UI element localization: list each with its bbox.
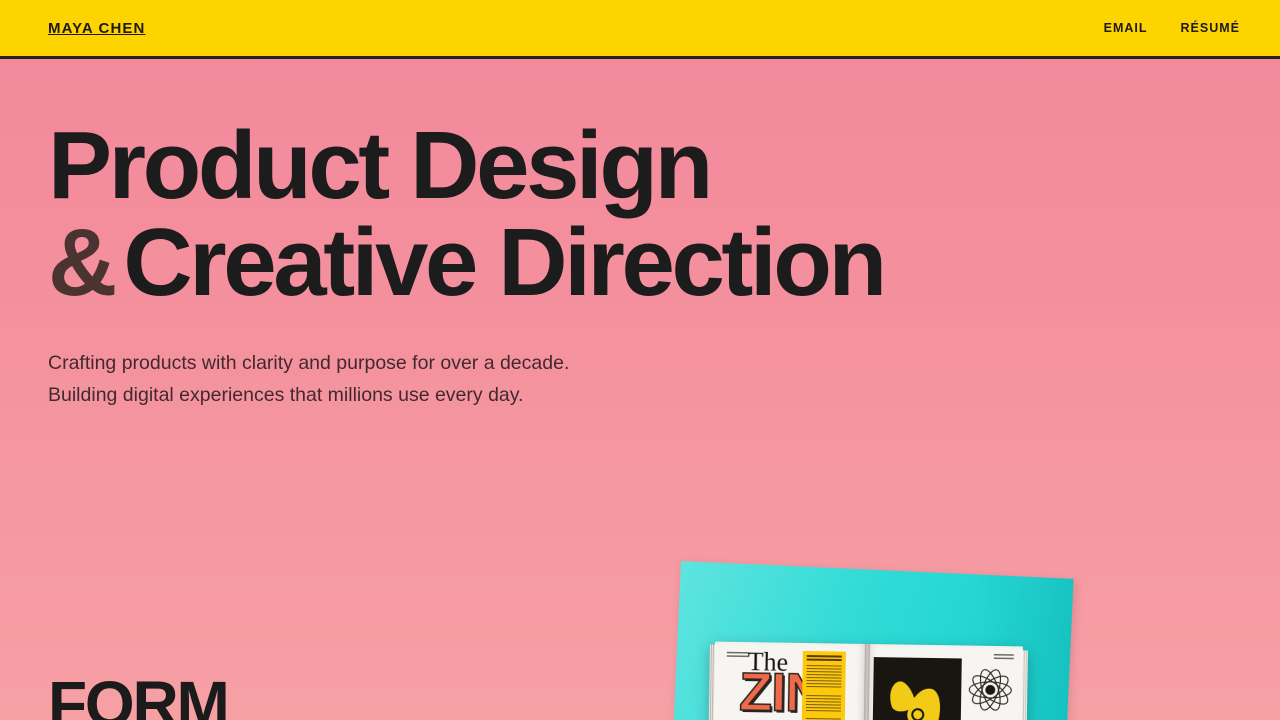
atom-diagram-icon — [966, 666, 1015, 715]
magazine-yellow-sidebar — [802, 651, 846, 720]
sidebar-body-lines-2 — [806, 695, 841, 714]
magazine-spine-shadow — [863, 644, 870, 720]
site-logo-wordmark[interactable]: MAYA CHEN — [48, 20, 145, 37]
hero-section: Product Design &Creative Direction Craft… — [48, 118, 1148, 411]
hero-photo-composition: The ZIN — [660, 548, 1120, 720]
top-navigation-bar: MAYA CHEN EMAIL RÉSUMÉ — [0, 0, 1280, 59]
sidebar-body-lines-1 — [806, 665, 841, 690]
nav-links-group: EMAIL RÉSUMÉ — [1104, 21, 1240, 35]
sidebar-heading-lines — [807, 655, 842, 663]
hero-headline-line-2-text: Creative Direction — [123, 209, 883, 316]
left-page-header-text — [727, 652, 749, 659]
magazine-left-page: The ZIN — [713, 642, 867, 720]
hero-subheading-line-2: Building digital experiences that millio… — [48, 379, 1148, 411]
hero-subheading: Crafting products with clarity and purpo… — [48, 347, 1148, 411]
nav-link-resume[interactable]: RÉSUMÉ — [1181, 21, 1240, 35]
hero-headline-line-1: Product Design — [48, 118, 1148, 213]
hero-headline-line-2: &Creative Direction — [48, 215, 1148, 310]
nav-link-email[interactable]: EMAIL — [1104, 21, 1148, 35]
magazine-right-page — [865, 644, 1023, 720]
open-magazine-photo: The ZIN — [713, 642, 1023, 720]
section-heading-form: FORM — [48, 672, 228, 720]
right-page-folio-text — [994, 654, 1014, 661]
hero-subheading-line-1: Crafting products with clarity and purpo… — [48, 347, 1148, 379]
hero-ampersand: & — [48, 209, 123, 316]
right-page-black-panel — [872, 657, 962, 720]
